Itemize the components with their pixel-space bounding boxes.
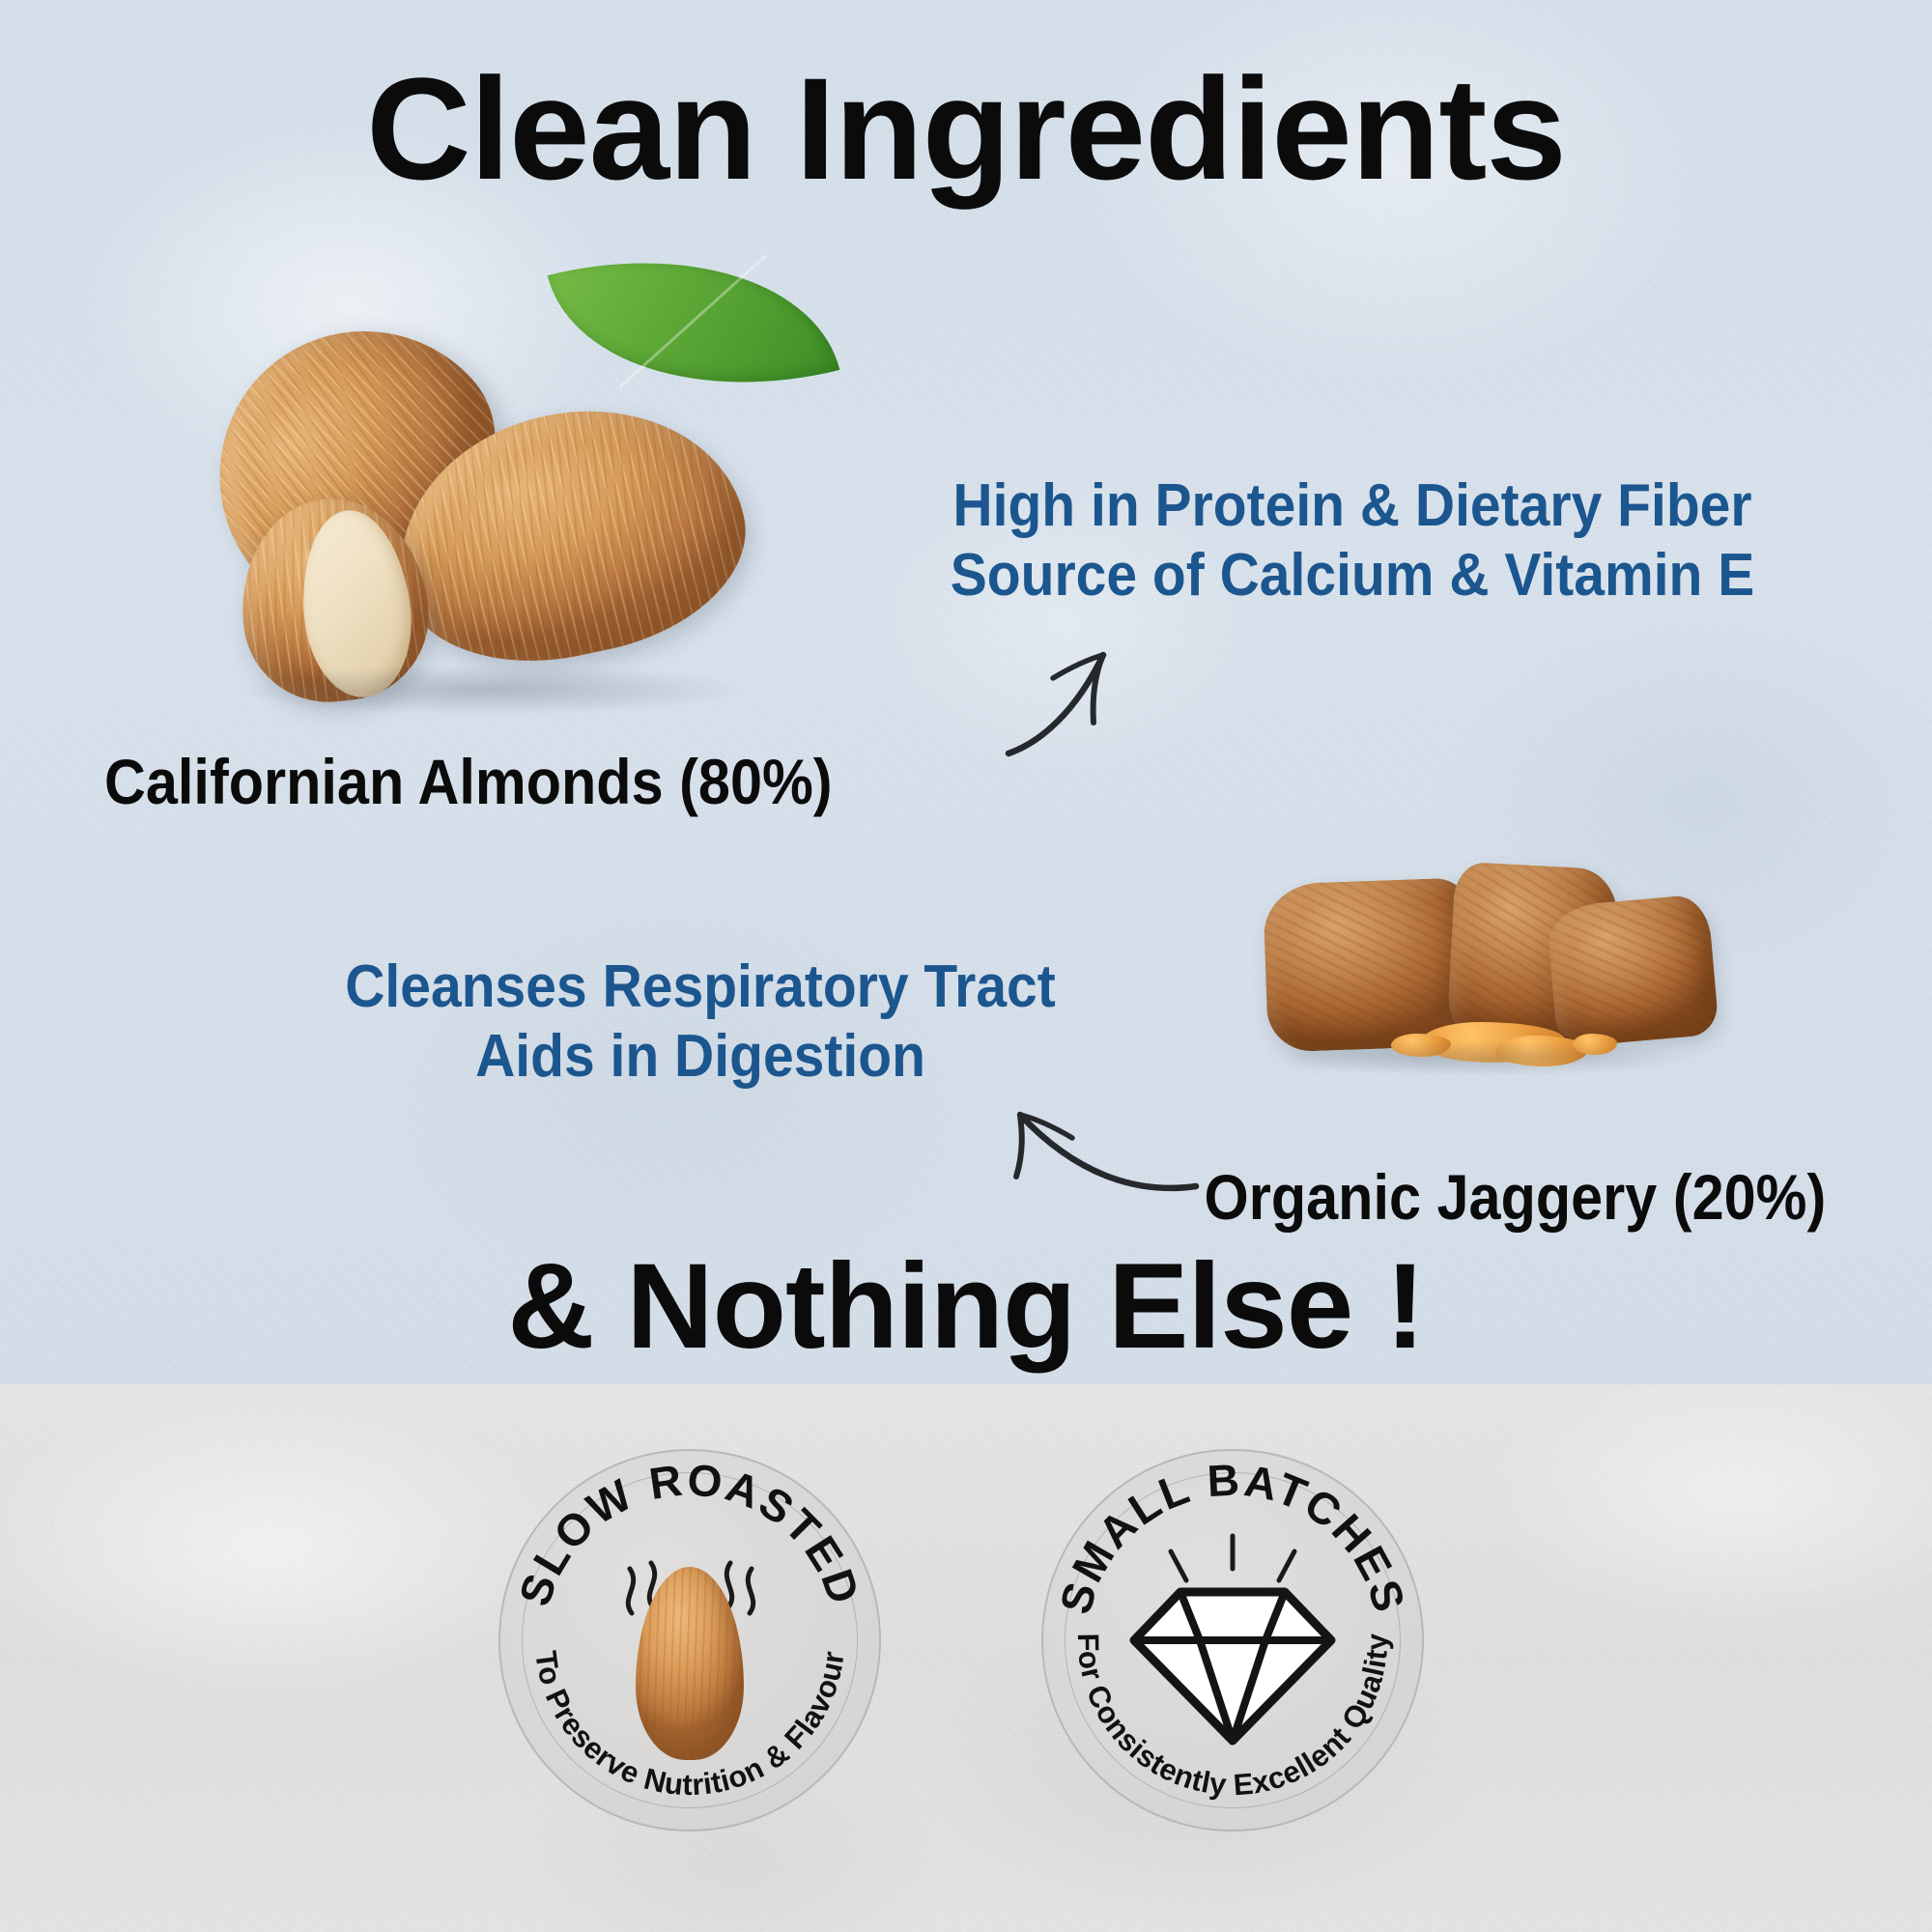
ingredient-label-jaggery: Organic Jaggery (20%) [1135, 1165, 1826, 1229]
ingredient-label-jaggery-text: Organic Jaggery (20%) [1204, 1165, 1826, 1229]
closing-headline-text: & Nothing Else ! [507, 1239, 1424, 1374]
jaggery-benefit-line-2: Aids in Digestion [216, 1022, 1185, 1092]
paper-texture-overlay-bottom [0, 1384, 1932, 1932]
bottom-section-background [0, 1384, 1932, 1932]
jaggery-benefits-text: Cleanses Respiratory Tract Aids in Diges… [174, 952, 1227, 1092]
ingredient-label-almonds: Californian Almonds (80%) [104, 750, 913, 813]
jaggery-blocks-image [1265, 856, 1719, 1078]
jaggery-benefit-line-1: Cleanses Respiratory Tract [216, 952, 1185, 1022]
jaggery-ground-shadow [1275, 1041, 1690, 1076]
almond-benefit-line-2: Source of Calcium & Vitamin E [837, 541, 1867, 611]
almonds-with-leaf-image [220, 240, 829, 723]
closing-headline: & Nothing Else ! [0, 1246, 1932, 1367]
jaggery-block-right [1546, 894, 1719, 1048]
curved-arrow-up-right-icon [995, 618, 1217, 773]
clean-ingredients-infographic: Clean Ingredients High in Protein & Diet… [0, 0, 1932, 1932]
ingredient-label-almonds-text: Californian Almonds (80%) [104, 750, 833, 813]
badge-small-batches: SMALL BATCHES For Consistently Excellent… [1041, 1449, 1424, 1832]
page-title: Clean Ingredients [0, 56, 1932, 201]
page-title-text: Clean Ingredients [366, 47, 1566, 210]
almond-benefit-line-1: High in Protein & Dietary Fiber [837, 471, 1867, 541]
almond-benefits-text: High in Protein & Dietary Fiber Source o… [792, 471, 1913, 611]
almonds-ground-shadow [240, 665, 742, 715]
badge-slow-roasted: SLOW ROASTED To Preserve Nutrition & Fla… [498, 1449, 881, 1832]
almond-leaf-icon [548, 213, 840, 433]
diamond-with-sparkles-icon [1043, 1451, 1422, 1830]
